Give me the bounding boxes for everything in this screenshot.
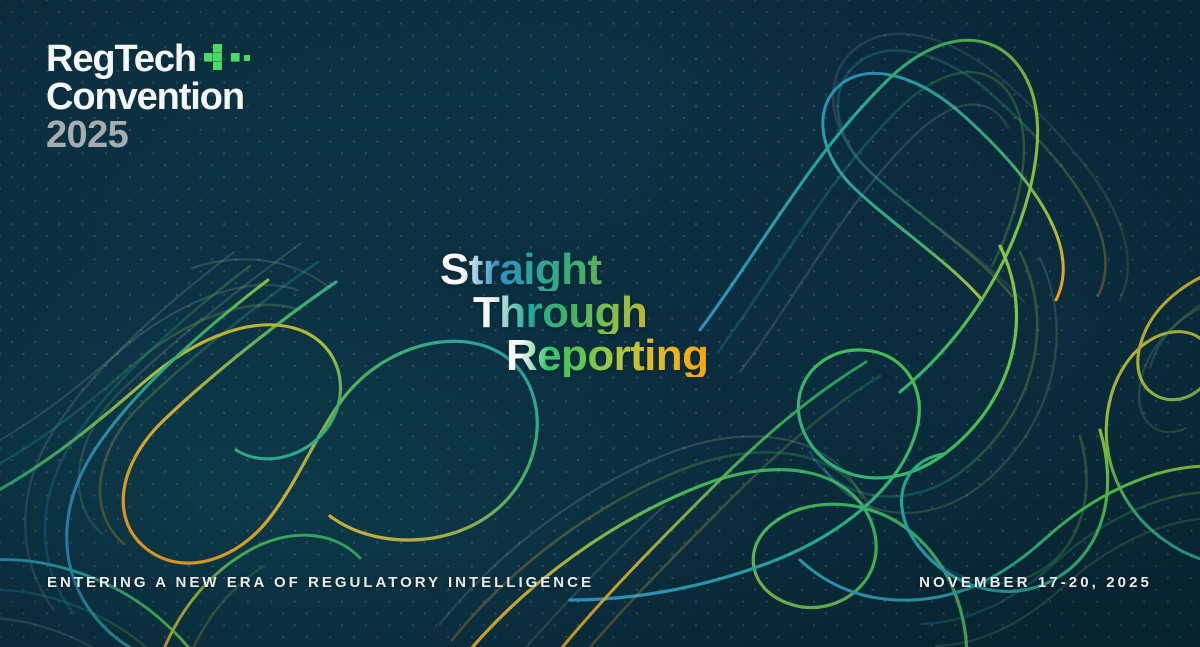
ribbon-bottom-left-arcs <box>0 535 360 647</box>
headline-line-2: Through <box>473 291 708 334</box>
event-banner: RegTech Convention 2025 Straight Thro <box>0 0 1200 647</box>
ribbon-top-arc <box>700 40 1038 392</box>
ribbon-top-right <box>823 34 1128 302</box>
headline-straight-through-reporting: Straight Through Reporting <box>440 248 708 377</box>
ribbon-right-edge <box>902 266 1200 591</box>
brand-name-regtech: RegTech <box>46 40 196 78</box>
pixel-plus-logo-mark-icon <box>204 44 250 75</box>
brand-name-convention: Convention <box>46 78 250 116</box>
event-date: NOVEMBER 17-20, 2025 <box>919 574 1152 591</box>
brand-line-1-row: RegTech <box>46 40 250 78</box>
headline-line-3: Reporting <box>506 334 708 377</box>
brand-year: 2025 <box>46 115 250 155</box>
brand-logo-lockup: RegTech Convention 2025 <box>46 40 250 155</box>
tagline: ENTERING A NEW ERA OF REGULATORY INTELLI… <box>47 574 594 591</box>
headline-line-1: Straight <box>440 248 708 291</box>
